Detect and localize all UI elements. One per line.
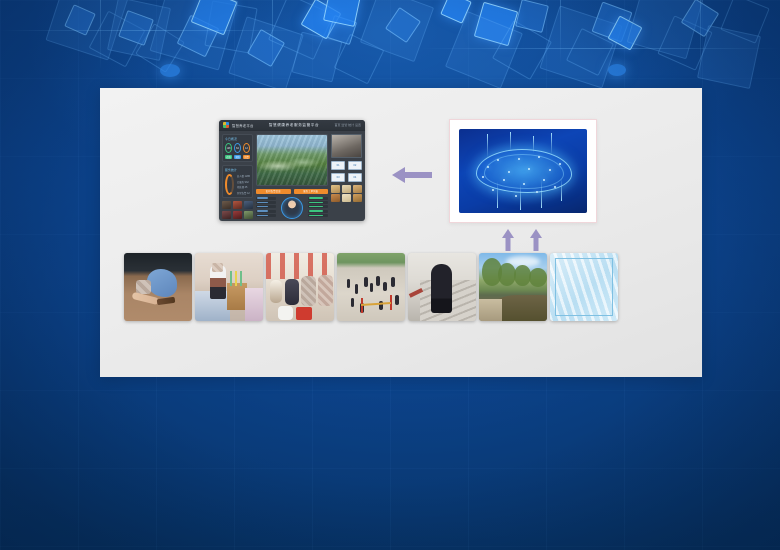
worklist[interactable] (308, 197, 328, 219)
sensing-input-arrow-2 (529, 228, 543, 252)
dashboard-title: 智慧健康养老服务监管平台 (257, 123, 332, 128)
ring-alert: 12 (243, 143, 250, 153)
overview-panel: 今日概况 128 64 12 在线 离线 告警 (222, 134, 253, 162)
photo-image (124, 253, 192, 321)
profile-thumb[interactable] (233, 211, 242, 219)
resident-avatar-wrap (279, 197, 305, 219)
data-to-platform-arrow (390, 164, 434, 186)
stat-alerts: 异常告警 12 (237, 191, 250, 195)
service-stats-row: 总人数 1286 已服务 932 待处理 45 异常告警 12 (225, 174, 250, 195)
platform-logo-icon (223, 122, 229, 128)
center-detail-row (256, 197, 328, 219)
dashboard-nav[interactable]: 首页 监管 统计 设置 (334, 123, 361, 127)
overview-rings: 128 64 12 (225, 143, 250, 153)
photo-image (408, 253, 476, 321)
alert-row (256, 205, 276, 208)
device-icon[interactable]: 03 (331, 173, 345, 182)
meal-thumb[interactable] (353, 185, 362, 193)
ring-online: 128 (225, 143, 232, 153)
dashboard-brand: 智慧养老平台 (232, 123, 254, 128)
meal-thumb[interactable] (342, 194, 351, 202)
photo-blue-placeholder[interactable] (550, 253, 618, 321)
alert-list[interactable] (256, 197, 276, 219)
photo-bedroom-monitoring[interactable] (195, 253, 263, 321)
device-icon[interactable]: 02 (348, 161, 362, 170)
photo-image (195, 253, 263, 321)
device-icon[interactable]: 01 (331, 161, 345, 170)
overview-label: 今日概况 (225, 137, 250, 141)
meal-thumb[interactable] (353, 194, 362, 202)
dashboard-right-column: 01 02 03 04 (331, 134, 362, 219)
profile-thumb[interactable] (244, 211, 253, 219)
sensing-input-arrow-1 (501, 228, 515, 252)
photo-park-lake[interactable] (479, 253, 547, 321)
ai-brain-panel[interactable] (449, 119, 597, 223)
photo-image (337, 253, 405, 321)
chip-alert: 告警 (243, 155, 250, 159)
device-icon[interactable]: 04 (348, 173, 362, 182)
worklist-row (308, 201, 328, 204)
photo-fall-detection[interactable] (124, 253, 192, 321)
content-card: 智慧养老平台 智慧健康养老服务监管平台 首页 监管 统计 设置 今日概况 128… (100, 88, 702, 377)
brain-outline-icon (476, 149, 573, 193)
platform-dashboard-screenshot[interactable]: 智慧养老平台 智慧健康养老服务监管平台 首页 监管 统计 设置 今日概况 128… (219, 120, 365, 221)
photo-image (266, 253, 334, 321)
profile-thumb[interactable] (222, 201, 231, 209)
profile-thumb[interactable] (222, 211, 231, 219)
alert-row (256, 210, 276, 213)
service-donut-chart (225, 174, 234, 195)
overview-chips: 在线 离线 告警 (225, 155, 250, 159)
photo-activity-room[interactable] (266, 253, 334, 321)
service-stats-values: 总人数 1286 已服务 932 待处理 45 异常告警 12 (237, 174, 250, 194)
scenario-photo-strip (124, 253, 618, 321)
meal-thumb[interactable] (331, 185, 340, 193)
campus-3d-view[interactable] (256, 134, 328, 186)
video-surveillance-tile[interactable] (331, 134, 362, 158)
sensing-input-arrows (494, 228, 550, 252)
profile-thumb[interactable] (233, 201, 242, 209)
meal-thumb[interactable] (342, 185, 351, 193)
profile-thumbnail-grid[interactable] (222, 201, 253, 219)
photo-stairs-walking[interactable] (408, 253, 476, 321)
ai-brain-image (459, 129, 587, 213)
photo-image (550, 253, 618, 321)
alert-row (256, 214, 276, 217)
worklist-row (308, 210, 328, 213)
worklist-bar[interactable]: 服务工单列表 (294, 189, 329, 194)
dashboard-center-column: 实时告警信息 服务工单列表 (256, 134, 328, 219)
device-status-grid[interactable]: 01 02 03 04 (331, 161, 362, 182)
dashboard-header: 智慧养老平台 智慧健康养老服务监管平台 首页 监管 统计 设置 (219, 120, 365, 131)
alert-row (256, 201, 276, 204)
left-arrow-icon (390, 164, 434, 186)
stat-pending: 待处理 45 (237, 185, 250, 189)
chip-offline: 离线 (234, 155, 241, 159)
photo-plaza-crowd[interactable] (337, 253, 405, 321)
photo-image (479, 253, 547, 321)
stat-served: 已服务 932 (237, 180, 250, 184)
resident-avatar[interactable] (281, 197, 303, 219)
worklist-row (308, 214, 328, 217)
slide-canvas: 智慧养老平台 智慧健康养老服务监管平台 首页 监管 统计 设置 今日概况 128… (0, 0, 780, 550)
dashboard-body: 今日概况 128 64 12 在线 离线 告警 服务统计 (219, 131, 365, 221)
ring-offline: 64 (234, 143, 241, 153)
worklist-row (308, 197, 328, 200)
worklist-row (308, 205, 328, 208)
service-stats-label: 服务统计 (225, 168, 250, 172)
profile-thumb[interactable] (244, 201, 253, 209)
dashboard-left-column: 今日概况 128 64 12 在线 离线 告警 服务统计 (222, 134, 253, 219)
chip-online: 在线 (225, 155, 232, 159)
meal-thumbnail-grid[interactable] (331, 185, 362, 203)
center-section-bars: 实时告警信息 服务工单列表 (256, 189, 328, 194)
alert-row (256, 197, 276, 200)
service-stats-panel: 服务统计 总人数 1286 已服务 932 待处理 45 异常告警 12 (222, 165, 253, 198)
alert-bar[interactable]: 实时告警信息 (256, 189, 291, 194)
stat-total: 总人数 1286 (237, 174, 250, 178)
meal-thumb[interactable] (331, 194, 340, 202)
